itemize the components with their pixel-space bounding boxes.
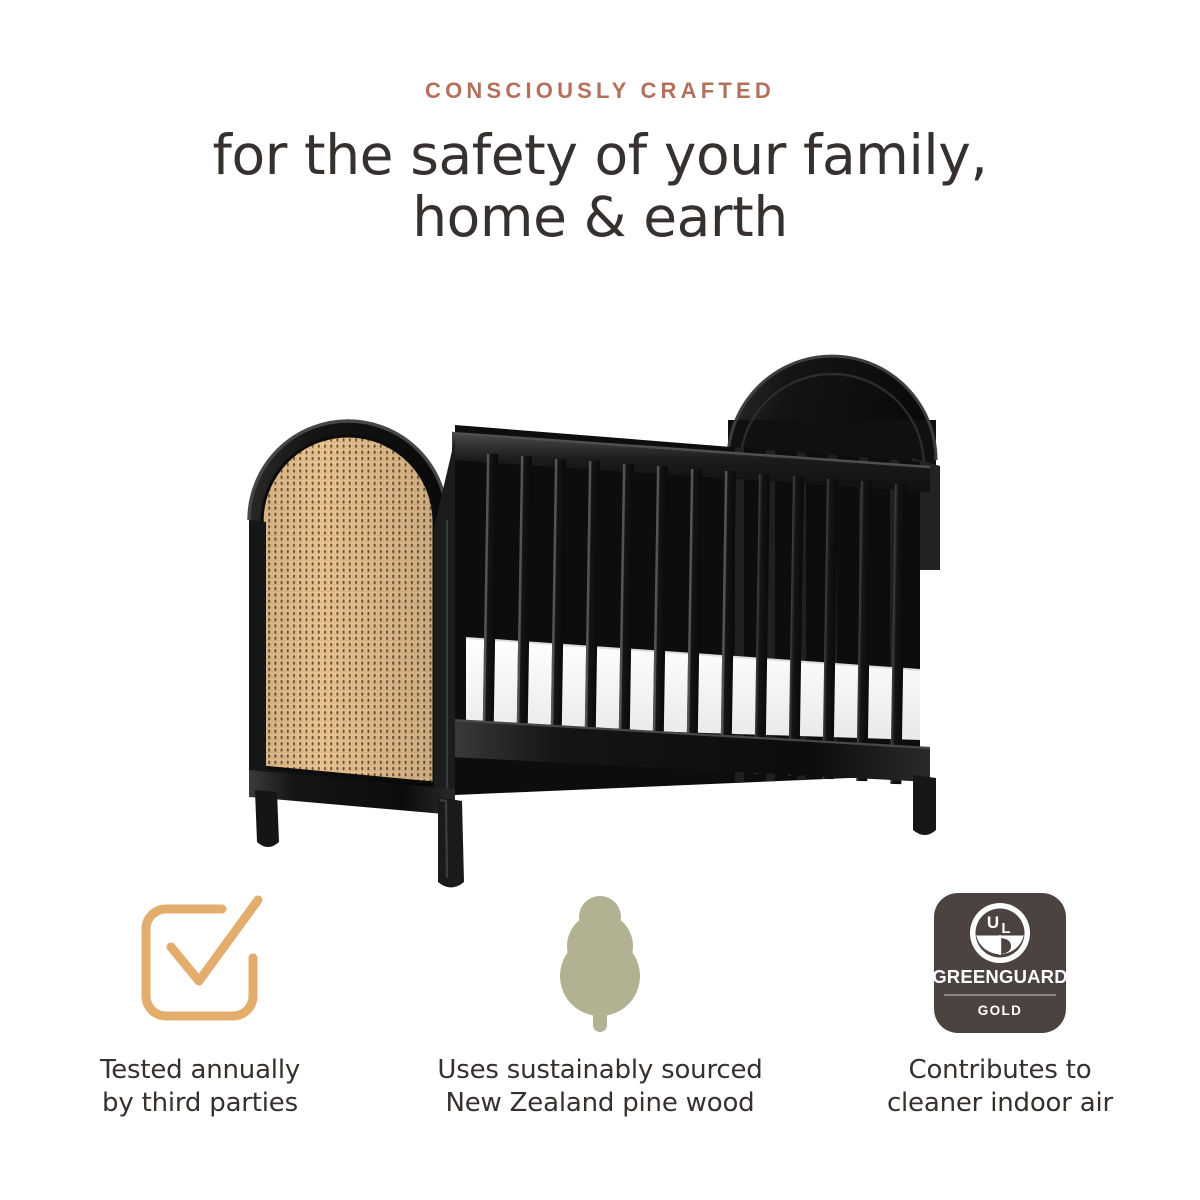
feature-caption-2-line-1: Uses sustainably sourced — [437, 1055, 762, 1085]
feature-icon-wrap-3: U L GREENGUARD GOLD — [934, 888, 1066, 1038]
headline-line-1: for the safety of your family, — [213, 123, 988, 187]
greenguard-level: GOLD — [978, 1003, 1023, 1018]
svg-text:U: U — [987, 913, 999, 932]
feature-caption-1-line-2: by third parties — [100, 1087, 300, 1120]
feature-item-greenguard-gold: U L GREENGUARD GOLD Contributes to clean… — [800, 888, 1200, 1138]
feature-caption-2-line-2: New Zealand pine wood — [437, 1087, 762, 1120]
feature-caption-3: Contributes to cleaner indoor air — [887, 1054, 1113, 1120]
feature-caption-1: Tested annually by third parties — [100, 1054, 300, 1120]
eyebrow-text: CONSCIOUSLY CRAFTED — [0, 78, 1200, 104]
feature-caption-3-line-2: cleaner indoor air — [887, 1087, 1113, 1120]
crib-product-image — [0, 270, 1200, 890]
tree-icon — [530, 888, 670, 1038]
checkbox-check-icon — [125, 888, 275, 1038]
feature-item-sustainable-wood: Uses sustainably sourced New Zealand pin… — [400, 888, 800, 1138]
svg-text:L: L — [1001, 920, 1010, 937]
crib-cane-end-panel — [249, 420, 455, 820]
feature-caption-3-line-1: Contributes to — [909, 1055, 1092, 1085]
marketing-infographic: CONSCIOUSLY CRAFTED for the safety of yo… — [0, 0, 1200, 1200]
feature-icon-wrap-1 — [125, 888, 275, 1038]
feature-caption-2: Uses sustainably sourced New Zealand pin… — [437, 1054, 762, 1120]
feature-caption-1-line-1: Tested annually — [100, 1055, 300, 1085]
ul-mark-icon: U L — [969, 902, 1031, 964]
greenguard-gold-badge-icon: U L GREENGUARD GOLD — [934, 893, 1066, 1033]
greenguard-name: GREENGUARD — [932, 966, 1068, 988]
feature-item-tested-annually: Tested annually by third parties — [0, 888, 400, 1138]
page-title: for the safety of your family, home & ea… — [0, 124, 1200, 248]
feature-icon-wrap-2 — [530, 888, 670, 1038]
greenguard-divider — [944, 994, 1056, 996]
headline-line-2: home & earth — [0, 186, 1200, 248]
feature-row: Tested annually by third parties Uses su… — [0, 888, 1200, 1138]
